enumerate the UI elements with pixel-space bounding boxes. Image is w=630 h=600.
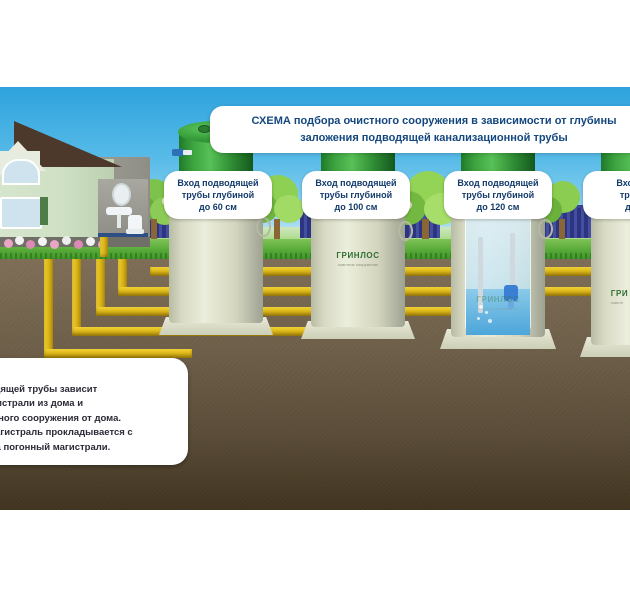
window-upper xyxy=(2,159,40,185)
callout-line-3: до 100 см xyxy=(311,201,401,213)
illustration-canvas: ГРИНЛОС очистное сооружение xyxy=(0,87,630,510)
info-box-title: ГРИНЛОС xyxy=(0,367,176,379)
callout-line-2: трубы глубиной xyxy=(311,189,401,201)
tank-lug-2 xyxy=(398,221,413,241)
house-outlet-riser xyxy=(100,237,108,257)
page-root: ГРИНЛОС очистное сооружение xyxy=(0,0,630,600)
callout-depth-120: Вход подводящей трубы глубиной до 120 см xyxy=(444,171,552,219)
bubble xyxy=(488,319,492,323)
sink-pedestal xyxy=(117,214,121,228)
callout-line-1: Вход подводящей xyxy=(173,177,263,189)
tank-sublabel-3: очистное сооружение xyxy=(478,306,518,311)
tank-inlet-1 xyxy=(172,149,184,156)
info-box: ГРИНЛОС Глубина подводящей трубы зависит… xyxy=(0,358,188,465)
title-banner: СХЕМА подбора очистного сооружения в зав… xyxy=(210,106,630,153)
pipe-riser-3 xyxy=(96,259,105,313)
tank-cutaway-window-3 xyxy=(465,207,531,335)
tank-logo-4: ГРИ xyxy=(611,289,628,298)
tank-sublabel-4: очистн xyxy=(611,300,624,305)
pipe-riser-1 xyxy=(44,259,53,355)
banner-line-2: заложения подводящей канализационной тру… xyxy=(224,130,630,147)
toilet-bowl-icon xyxy=(126,229,144,234)
tank-logo-2: ГРИНЛОС xyxy=(336,251,379,260)
info-line-2: от глубины магистрали из дома и xyxy=(0,397,176,411)
tank-lug-3 xyxy=(538,219,553,239)
aeration-tube-3b xyxy=(510,233,515,291)
info-box-body: Глубина подводящей трубы зависит от глуб… xyxy=(0,383,176,455)
tank-sublabel-2: очистное сооружение xyxy=(338,262,378,267)
tank-logo-3: ГРИНЛОС xyxy=(476,295,519,304)
info-line-3: удаления очистного сооружения от дома. xyxy=(0,412,176,426)
callout-line-2: трубы г xyxy=(592,189,630,201)
pipe-riser-2 xyxy=(72,259,81,333)
house xyxy=(0,115,166,247)
callout-depth-100: Вход подводящей трубы глубиной до 100 см xyxy=(302,171,410,219)
callout-depth-60: Вход подводящей трубы глубиной до 60 см xyxy=(164,171,272,219)
tank-lug-1 xyxy=(256,217,271,237)
callout-line-1: Вход под xyxy=(592,177,630,189)
callout-line-1: Вход подводящей xyxy=(453,177,543,189)
info-line-5: уклоном 2 см на погонный магистрали. xyxy=(0,441,176,455)
mirror-icon xyxy=(112,183,131,206)
pipe-horizontal-1 xyxy=(44,349,192,358)
callout-depth-140-clipped: Вход под трубы г до 14 xyxy=(583,171,630,219)
callout-line-1: Вход подводящей xyxy=(311,177,401,189)
callout-line-3: до 60 см xyxy=(173,201,263,213)
banner-line-1: СХЕМА подбора очистного сооружения в зав… xyxy=(224,113,630,130)
bubble xyxy=(477,317,480,320)
shutter-right xyxy=(40,197,48,225)
tank-body-4 xyxy=(591,205,630,345)
window-lower xyxy=(0,197,42,229)
bathroom-cutaway xyxy=(98,179,148,239)
info-line-1: Глубина подводящей трубы зависит xyxy=(0,383,176,397)
callout-line-2: трубы глубиной xyxy=(173,189,263,201)
callout-line-3: до 120 см xyxy=(453,201,543,213)
info-line-4: Как правило, магистраль прокладывается с xyxy=(0,426,176,440)
callout-line-3: до 14 xyxy=(592,201,630,213)
callout-line-2: трубы глубиной xyxy=(453,189,543,201)
bubble xyxy=(485,311,488,314)
